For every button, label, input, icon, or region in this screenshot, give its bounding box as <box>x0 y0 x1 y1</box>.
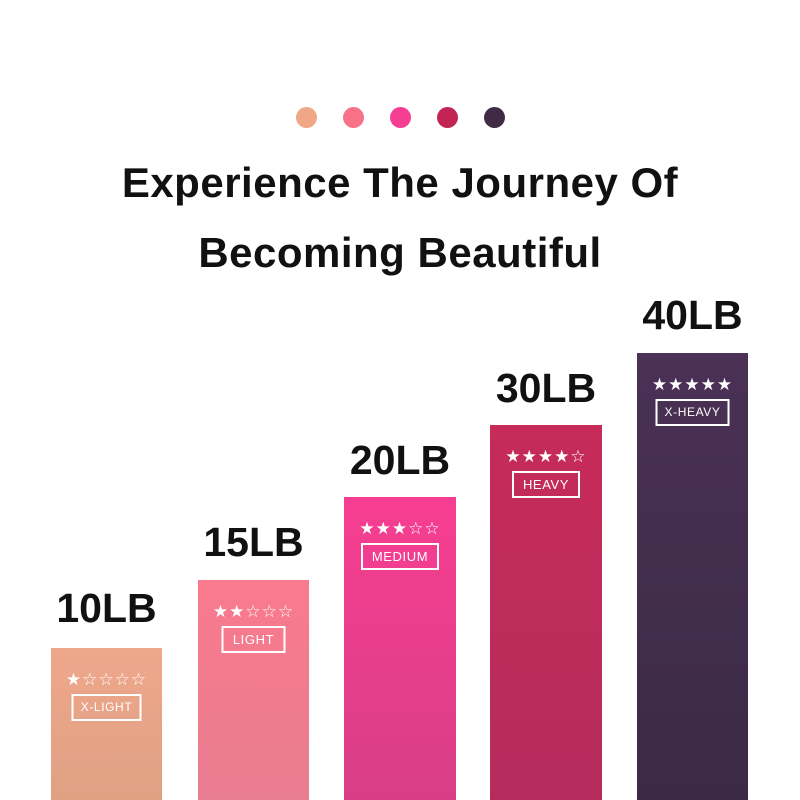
bar-badge: ★★★☆☆MEDIUM <box>344 519 456 570</box>
star-rating-icon: ★★★★☆ <box>490 447 602 466</box>
resistance-band-infographic: Experience The Journey Of Becoming Beaut… <box>0 0 800 800</box>
bar-group-medium[interactable]: ★★★☆☆MEDIUM <box>344 497 456 800</box>
bar-badge: ★★★★☆HEAVY <box>490 447 602 498</box>
level-label: X-HEAVY <box>656 399 730 426</box>
level-label: MEDIUM <box>361 543 439 570</box>
star-rating-icon: ★☆☆☆☆ <box>51 670 162 689</box>
bar-badge: ★★★★★X-HEAVY <box>637 375 748 426</box>
bar-badge: ★★☆☆☆LIGHT <box>198 602 309 653</box>
bar-badge: ★☆☆☆☆X-LIGHT <box>51 670 162 721</box>
bar-group-x-heavy[interactable]: ★★★★★X-HEAVY <box>637 353 748 800</box>
star-rating-icon: ★★★★★ <box>637 375 748 394</box>
star-rating-icon: ★★★☆☆ <box>344 519 456 538</box>
bar-weight-label: 30LB <box>496 368 596 409</box>
star-rating-icon: ★★☆☆☆ <box>198 602 309 621</box>
level-label: LIGHT <box>222 626 285 653</box>
bar-weight-label: 10LB <box>56 588 156 629</box>
bar-weight-label: 20LB <box>350 440 450 481</box>
level-label: X-LIGHT <box>72 694 142 721</box>
bar-weight-label: 15LB <box>203 522 303 563</box>
bar-group-x-light[interactable]: ★☆☆☆☆X-LIGHT <box>51 648 162 800</box>
bar-group-heavy[interactable]: ★★★★☆HEAVY <box>490 425 602 800</box>
bar-chart: ★☆☆☆☆X-LIGHT10LB★★☆☆☆LIGHT15LB★★★☆☆MEDIU… <box>0 0 800 800</box>
bar-group-light[interactable]: ★★☆☆☆LIGHT <box>198 580 309 800</box>
level-label: HEAVY <box>512 471 580 498</box>
bar-weight-label: 40LB <box>642 295 742 336</box>
